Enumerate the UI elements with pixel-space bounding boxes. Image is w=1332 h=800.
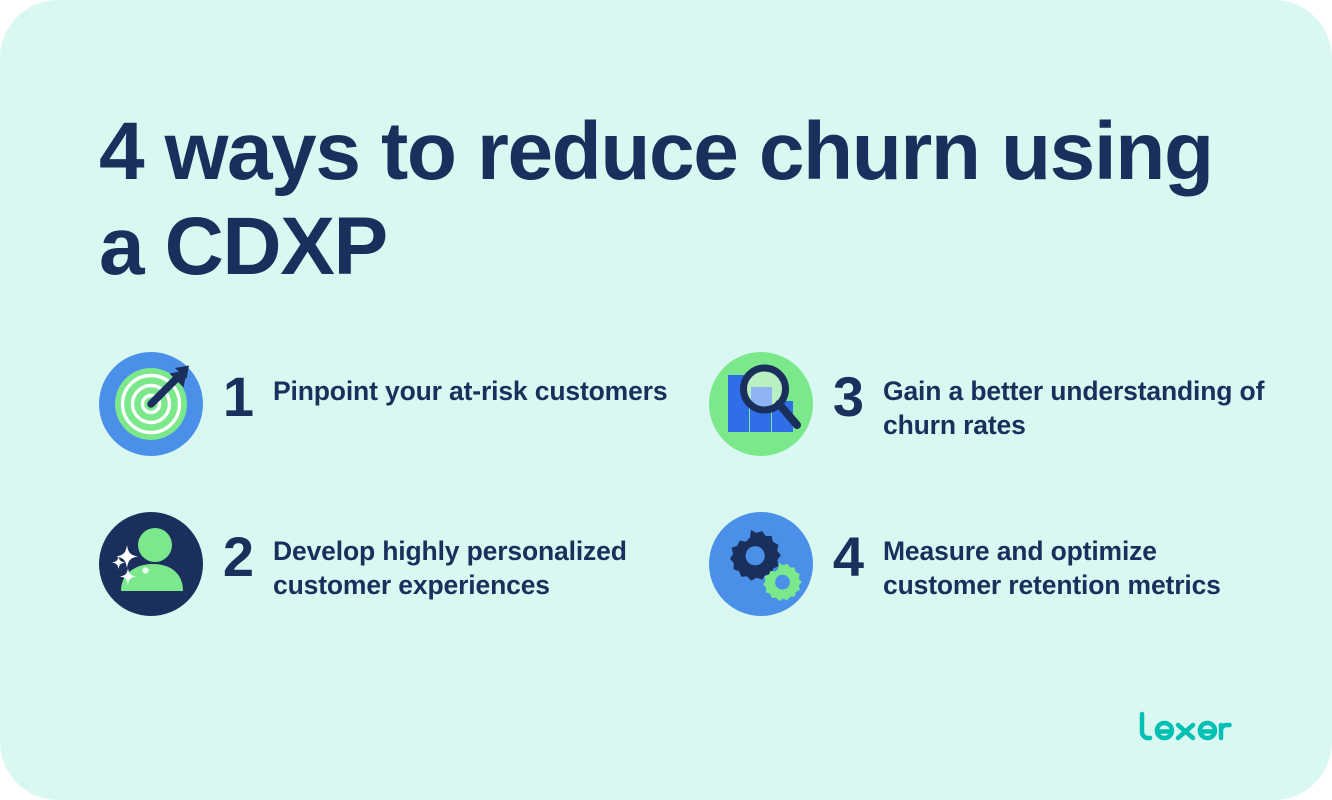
list-item: 4 Measure and optimize customer retentio… <box>709 512 1269 672</box>
items-grid: 1 Pinpoint your at-risk customers 3 Gain… <box>99 352 1269 672</box>
lexer-logo <box>1138 710 1244 744</box>
list-item-label: Develop highly personalized customer exp… <box>273 512 709 603</box>
lexer-wordmark-icon <box>1138 710 1244 744</box>
person-sparkle-icon <box>99 512 203 616</box>
list-item: 2 Develop highly personalized customer e… <box>99 512 709 672</box>
list-item-number: 3 <box>813 352 883 425</box>
page-title: 4 ways to reduce churn using a CDXP <box>99 104 1269 294</box>
list-item-number: 4 <box>813 512 883 585</box>
gears-icon <box>709 512 813 616</box>
infographic-card: 4 ways to reduce churn using a CDXP 1 Pi… <box>0 0 1332 800</box>
target-dart-icon <box>99 352 203 456</box>
list-item-label: Pinpoint your at-risk customers <box>273 352 709 409</box>
list-item-number: 2 <box>203 512 273 585</box>
bar-chart-magnifier-icon <box>709 352 813 456</box>
list-item: 3 Gain a better understanding of churn r… <box>709 352 1269 512</box>
list-item-number: 1 <box>203 352 273 425</box>
list-item-label: Measure and optimize customer retention … <box>883 512 1269 603</box>
list-item-label: Gain a better understanding of churn rat… <box>883 352 1269 443</box>
list-item: 1 Pinpoint your at-risk customers <box>99 352 709 512</box>
